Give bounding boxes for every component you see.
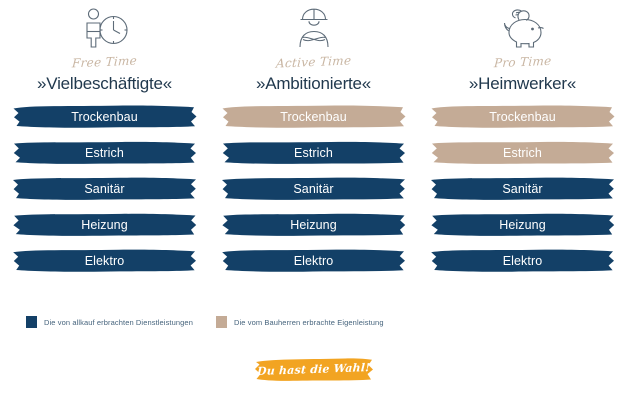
legend-item-dienstleistungen: Die von allkauf erbrachten Dienstleistun… xyxy=(26,316,216,328)
column-script-label: Free Time xyxy=(71,53,137,72)
bars-list: Trockenbau Estrich Sanitär xyxy=(219,103,409,274)
legend-label: Die vom Bauherren erbrachte Eigenleistun… xyxy=(234,318,384,327)
bar-row[interactable]: Trockenbau xyxy=(10,103,200,130)
legend-item-eigenleistung: Die vom Bauherren erbrachte Eigenleistun… xyxy=(216,316,384,328)
column-ambitionierte: Active Time »Ambitionierte« Trockenbau E… xyxy=(209,0,418,300)
bar-label: Estrich xyxy=(294,146,333,160)
bar-label: Trockenbau xyxy=(71,110,138,124)
column-script-label: Active Time xyxy=(275,52,351,71)
bar-label: Elektro xyxy=(503,254,543,268)
bar-label: Trockenbau xyxy=(489,110,556,124)
column-headline: »Vielbeschäftigte« xyxy=(37,71,172,97)
bar-row[interactable]: Trockenbau xyxy=(219,103,409,130)
comparison-board: Free Time »Vielbeschäftigte« Trockenbau … xyxy=(0,0,627,400)
bar-label: Sanitär xyxy=(293,182,333,196)
bar-row[interactable]: Elektro xyxy=(428,247,618,274)
bar-row[interactable]: Elektro xyxy=(10,247,200,274)
bar-label: Elektro xyxy=(85,254,125,268)
bar-label: Estrich xyxy=(85,146,124,160)
bar-row[interactable]: Elektro xyxy=(219,247,409,274)
bar-row[interactable]: Heizung xyxy=(10,211,200,238)
person-clock-icon xyxy=(79,4,131,52)
bars-list: Trockenbau Estrich Sanitär xyxy=(428,103,618,274)
column-vielbeschaeftigte: Free Time »Vielbeschäftigte« Trockenbau … xyxy=(0,0,209,300)
bars-list: Trockenbau Estrich Sanitär xyxy=(10,103,200,274)
column-headline: »Ambitionierte« xyxy=(256,71,371,97)
piggy-bank-icon xyxy=(498,4,548,52)
columns-container: Free Time »Vielbeschäftigte« Trockenbau … xyxy=(0,0,627,300)
column-headline: »Heimwerker« xyxy=(469,71,576,97)
bar-label: Elektro xyxy=(294,254,334,268)
column-heimwerker: Pro Time »Heimwerker« Trockenbau Estrich xyxy=(418,0,627,300)
legend-swatch-beige xyxy=(216,316,227,328)
bar-row[interactable]: Sanitär xyxy=(428,175,618,202)
bar-label: Heizung xyxy=(499,218,546,232)
bar-row[interactable]: Heizung xyxy=(219,211,409,238)
column-script-label: Pro Time xyxy=(493,53,552,72)
bar-label: Heizung xyxy=(81,218,128,232)
bar-row[interactable]: Heizung xyxy=(428,211,618,238)
bar-row[interactable]: Sanitär xyxy=(10,175,200,202)
bar-row[interactable]: Trockenbau xyxy=(428,103,618,130)
legend-label: Die von allkauf erbrachten Dienstleistun… xyxy=(44,318,193,327)
legend-swatch-blue xyxy=(26,316,37,328)
worker-helmet-icon xyxy=(292,4,336,52)
bar-row[interactable]: Estrich xyxy=(10,139,200,166)
legend: Die von allkauf erbrachten Dienstleistun… xyxy=(26,316,606,328)
bar-label: Sanitär xyxy=(84,182,124,196)
bar-label: Sanitär xyxy=(502,182,542,196)
bar-row[interactable]: Estrich xyxy=(219,139,409,166)
cta-container: Du hast die Wahl! xyxy=(0,354,627,384)
bar-row[interactable]: Sanitär xyxy=(219,175,409,202)
bar-label: Estrich xyxy=(503,146,542,160)
bar-label: Trockenbau xyxy=(280,110,347,124)
bar-row[interactable]: Estrich xyxy=(428,139,618,166)
du-hast-die-wahl-button[interactable]: Du hast die Wahl! xyxy=(253,354,375,384)
bar-label: Heizung xyxy=(290,218,337,232)
